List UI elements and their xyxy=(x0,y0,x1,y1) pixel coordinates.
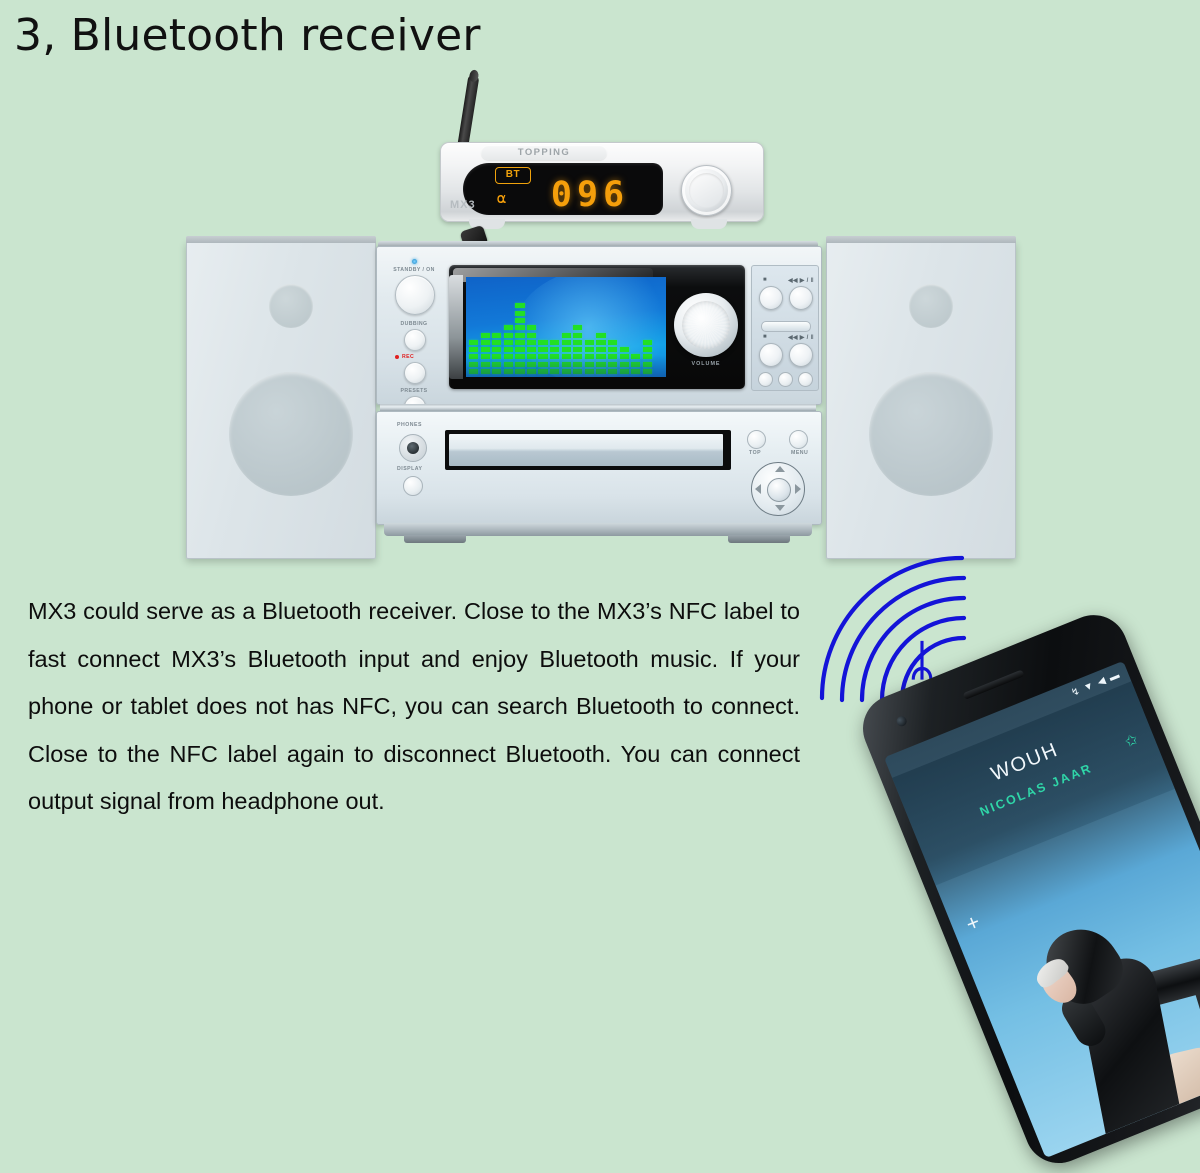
equalizer-segment xyxy=(643,354,652,359)
dubbing-label: DUBBING xyxy=(383,321,445,327)
equalizer-segment xyxy=(504,354,513,359)
equalizer-segment xyxy=(481,354,490,359)
receiver-model-label: MX3 xyxy=(450,199,476,211)
standby-on-button[interactable] xyxy=(395,275,435,315)
equalizer-segment xyxy=(596,362,605,367)
equalizer-segment xyxy=(596,333,605,338)
dpad-control[interactable] xyxy=(751,462,805,516)
equalizer-segment xyxy=(562,333,571,338)
equalizer-segment xyxy=(585,362,594,367)
equalizer-segment xyxy=(481,347,490,352)
phone-screen[interactable]: ↯ ▼ ◀ ▬ WOUH NICOLAS JAAR ✩ + xyxy=(884,661,1200,1158)
dpad-left-icon[interactable] xyxy=(755,484,761,494)
equalizer-segment xyxy=(504,340,513,345)
tape-play-symbol: ◀◀ ▶ / ‖ xyxy=(788,277,814,284)
equalizer-segment xyxy=(527,333,536,338)
rec-indicator-icon xyxy=(395,355,399,359)
equalizer-bars xyxy=(469,303,652,374)
equalizer-bar xyxy=(631,354,640,374)
small-button-1[interactable] xyxy=(758,372,773,387)
equalizer-bar xyxy=(573,325,582,374)
dpad-up-icon[interactable] xyxy=(775,466,785,472)
equalizer-bar xyxy=(643,340,652,374)
equalizer-segment xyxy=(620,354,629,359)
description-paragraph: MX3 could serve as a Bluetooth receiver.… xyxy=(28,588,800,826)
equalizer-segment xyxy=(515,311,524,316)
equalizer-segment xyxy=(573,369,582,374)
equalizer-segment xyxy=(562,362,571,367)
deck-slot-bar xyxy=(761,321,811,332)
stop-tape-button[interactable] xyxy=(759,286,783,310)
dubbing-button[interactable] xyxy=(404,329,426,351)
equalizer-bar xyxy=(481,333,490,374)
equalizer-bar xyxy=(562,333,571,374)
tape-play-button[interactable] xyxy=(789,286,813,310)
phones-jack[interactable] xyxy=(399,434,427,462)
stereo-lower-deck: PHONES DISPLAY TOP MENU xyxy=(376,411,822,525)
cd-play-symbol: ◀◀ ▶ / ‖ xyxy=(788,334,814,341)
description-text: MX3 could serve as a Bluetooth receiver.… xyxy=(28,588,800,826)
presets-label: PRESETS xyxy=(383,388,445,394)
equalizer-segment xyxy=(608,362,617,367)
equalizer-segment xyxy=(620,362,629,367)
equalizer-segment xyxy=(504,325,513,330)
equalizer-segment xyxy=(643,369,652,374)
dpad-enter-button[interactable] xyxy=(767,478,791,502)
antenna-icon xyxy=(457,74,479,149)
equalizer-segment xyxy=(631,354,640,359)
equalizer-segment xyxy=(573,340,582,345)
equalizer-bar xyxy=(469,340,478,374)
equalizer-segment xyxy=(527,340,536,345)
right-speaker xyxy=(826,241,1016,559)
equalizer-segment xyxy=(492,362,501,367)
equalizer-segment xyxy=(492,369,501,374)
equalizer-bar xyxy=(527,325,536,374)
power-led-icon xyxy=(412,259,417,264)
left-control-column: STANDBY / ON DUBBING REC PRESETS xyxy=(383,255,445,395)
equalizer-segment xyxy=(492,333,501,338)
equalizer-bar xyxy=(492,333,501,374)
equalizer-segment xyxy=(550,347,559,352)
deck-divider xyxy=(380,404,816,411)
equalizer-segment xyxy=(550,354,559,359)
dpad-down-icon[interactable] xyxy=(775,505,785,511)
status-icon-1: ↯ xyxy=(1070,685,1082,698)
equalizer-segment xyxy=(504,369,513,374)
bluetooth-receiver-device: TOPPING BT ⍺ 096 MX3 xyxy=(440,142,762,230)
stereo-upper-deck: STANDBY / ON DUBBING REC PRESETS xyxy=(376,246,822,405)
phone-earpiece xyxy=(963,669,1025,699)
woofer-driver xyxy=(229,372,353,496)
equalizer-segment xyxy=(608,354,617,359)
equalizer-segment xyxy=(469,369,478,374)
equalizer-segment xyxy=(515,354,524,359)
equalizer-segment xyxy=(515,325,524,330)
equalizer-segment xyxy=(538,340,547,345)
equalizer-segment xyxy=(643,347,652,352)
menu-button[interactable] xyxy=(789,430,808,449)
equalizer-segment xyxy=(585,340,594,345)
headphone-icon: ⍺ xyxy=(493,190,510,207)
equalizer-segment xyxy=(585,347,594,352)
equalizer-bar xyxy=(550,340,559,374)
equalizer-segment xyxy=(538,362,547,367)
equalizer-segment xyxy=(608,347,617,352)
receiver-brand-label: TOPPING xyxy=(481,146,607,160)
equalizer-segment xyxy=(562,369,571,374)
equalizer-bar xyxy=(538,340,547,374)
display-label: DISPLAY xyxy=(397,466,423,472)
equalizer-segment xyxy=(515,362,524,367)
equalizer-segment xyxy=(469,340,478,345)
rec-label: REC xyxy=(402,354,414,360)
equalizer-bar xyxy=(585,340,594,374)
equalizer-segment xyxy=(631,369,640,374)
equalizer-segment xyxy=(538,347,547,352)
equalizer-segment xyxy=(469,347,478,352)
equalizer-bar xyxy=(608,340,617,374)
equalizer-segment xyxy=(562,354,571,359)
equalizer-segment xyxy=(550,369,559,374)
equalizer-segment xyxy=(643,340,652,345)
left-speaker xyxy=(186,241,376,559)
equalizer-segment xyxy=(515,303,524,308)
equalizer-segment xyxy=(573,354,582,359)
cd-slot-inner xyxy=(449,434,723,466)
stereo-foot-right xyxy=(728,535,790,543)
stop-cd-symbol: ■ xyxy=(763,334,767,340)
top-label: TOP xyxy=(749,450,761,456)
equalizer-segment xyxy=(596,369,605,374)
right-control-block: ■ ◀◀ ▶ / ‖ ■ ◀◀ ▶ / ‖ xyxy=(751,265,819,391)
page-title: 3, Bluetooth receiver xyxy=(14,12,481,60)
equalizer-segment xyxy=(608,369,617,374)
equalizer-segment xyxy=(562,347,571,352)
rec-button[interactable] xyxy=(404,362,426,384)
stop-tape-symbol: ■ xyxy=(763,277,767,283)
equalizer-segment xyxy=(620,347,629,352)
phones-label: PHONES xyxy=(397,422,422,428)
equalizer-segment xyxy=(504,333,513,338)
equalizer-segment xyxy=(538,369,547,374)
equalizer-segment xyxy=(481,369,490,374)
receiver-foot-right xyxy=(691,219,727,229)
stop-cd-button[interactable] xyxy=(759,343,783,367)
equalizer-bar xyxy=(620,347,629,374)
equalizer-segment xyxy=(469,362,478,367)
equalizer-segment xyxy=(492,340,501,345)
tweeter-driver xyxy=(909,284,953,328)
equalizer-segment xyxy=(562,340,571,345)
equalizer-segment xyxy=(643,362,652,367)
small-button-2[interactable] xyxy=(778,372,793,387)
woofer-driver xyxy=(869,372,993,496)
equalizer-segment xyxy=(596,354,605,359)
equalizer-bar xyxy=(515,303,524,374)
display-bezel: VOLUME xyxy=(449,265,745,389)
equalizer-segment xyxy=(515,347,524,352)
standby-on-label: STANDBY / ON xyxy=(383,267,445,273)
equalizer-segment xyxy=(631,362,640,367)
equalizer-segment xyxy=(492,354,501,359)
equalizer-segment xyxy=(596,347,605,352)
top-button[interactable] xyxy=(747,430,766,449)
volume-knob[interactable] xyxy=(674,293,738,357)
equalizer-segment xyxy=(515,318,524,323)
equalizer-segment xyxy=(596,340,605,345)
equalizer-segment xyxy=(481,340,490,345)
equalizer-bar xyxy=(504,325,513,374)
cd-slot[interactable] xyxy=(445,430,731,470)
tweeter-driver xyxy=(269,284,313,328)
equalizer-segment xyxy=(527,362,536,367)
equalizer-segment xyxy=(527,347,536,352)
equalizer-segment xyxy=(550,362,559,367)
display-side-strip xyxy=(449,275,463,379)
equalizer-segment xyxy=(608,340,617,345)
equalizer-segment xyxy=(573,362,582,367)
equalizer-bar xyxy=(596,333,605,374)
equalizer-segment xyxy=(527,354,536,359)
menu-label: MENU xyxy=(791,450,808,456)
equalizer-segment xyxy=(585,354,594,359)
equalizer-segment xyxy=(469,354,478,359)
small-button-3[interactable] xyxy=(798,372,813,387)
equalizer-segment xyxy=(538,354,547,359)
status-icon-4: ▬ xyxy=(1108,669,1121,683)
display-button[interactable] xyxy=(403,476,423,496)
dpad-right-icon[interactable] xyxy=(795,484,801,494)
receiver-volume-readout: 096 xyxy=(525,175,655,215)
equalizer-segment xyxy=(573,347,582,352)
phone-chassis: ↯ ▼ ◀ ▬ WOUH NICOLAS JAAR ✩ + xyxy=(853,605,1200,1173)
equalizer-segment xyxy=(573,325,582,330)
volume-label: VOLUME xyxy=(674,361,738,367)
equalizer-segment xyxy=(527,369,536,374)
receiver-volume-knob[interactable] xyxy=(681,165,732,216)
front-camera-icon xyxy=(895,715,908,728)
equalizer-segment xyxy=(515,369,524,374)
equalizer-segment xyxy=(515,340,524,345)
cd-play-button[interactable] xyxy=(789,343,813,367)
equalizer-segment xyxy=(492,347,501,352)
stereo-foot-left xyxy=(404,535,466,543)
stereo-system: STANDBY / ON DUBBING REC PRESETS xyxy=(376,246,820,546)
equalizer-segment xyxy=(585,369,594,374)
equalizer-segment xyxy=(515,333,524,338)
equalizer-segment xyxy=(481,362,490,367)
equalizer-segment xyxy=(620,369,629,374)
equalizer-segment xyxy=(527,325,536,330)
receiver-chassis: TOPPING BT ⍺ 096 MX3 xyxy=(440,142,764,222)
equalizer-screen xyxy=(466,277,666,377)
receiver-display: BT ⍺ 096 xyxy=(463,163,663,215)
equalizer-segment xyxy=(504,362,513,367)
equalizer-segment xyxy=(573,333,582,338)
equalizer-segment xyxy=(481,333,490,338)
equalizer-segment xyxy=(504,347,513,352)
equalizer-segment xyxy=(550,340,559,345)
status-icon-3: ◀ xyxy=(1096,675,1107,688)
smartphone: ↯ ▼ ◀ ▬ WOUH NICOLAS JAAR ✩ + xyxy=(853,605,1200,1173)
receiver-foot-left xyxy=(469,219,505,229)
slide-canvas: 3, Bluetooth receiver TOPPING BT ⍺ 096 M… xyxy=(0,0,1200,900)
status-icon-2: ▼ xyxy=(1082,680,1095,694)
